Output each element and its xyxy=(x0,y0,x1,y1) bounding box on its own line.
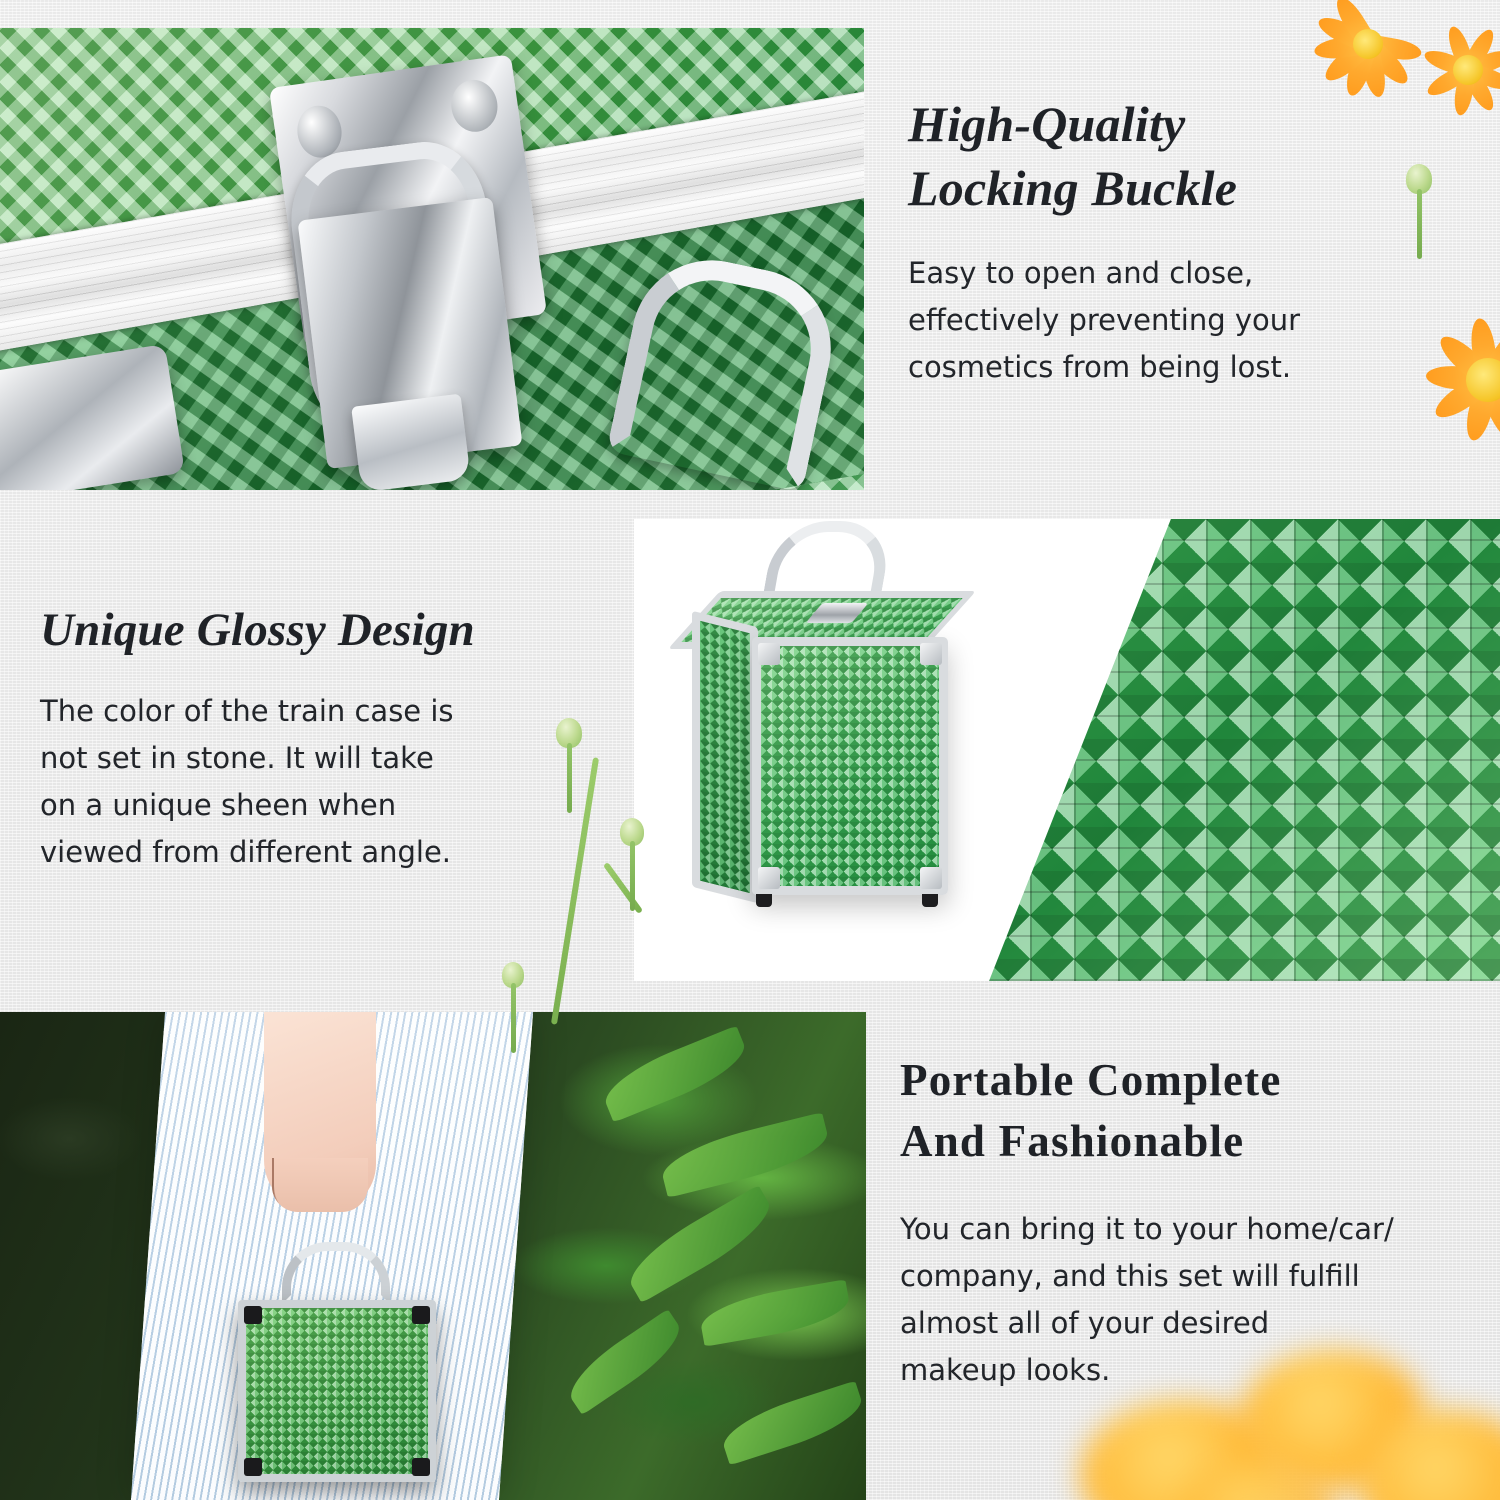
case-side-panel xyxy=(692,611,758,903)
case-corner-br xyxy=(920,867,942,889)
body-line-2: company, and this set will fulfill xyxy=(900,1253,1440,1300)
carried-case-body xyxy=(238,1300,436,1482)
body-line-4: viewed from different angle. xyxy=(40,829,510,876)
heading-line-2: And Fashionable xyxy=(900,1111,1440,1172)
case-corner-bl xyxy=(758,867,780,889)
latch-catch-tab xyxy=(351,394,471,490)
body-line-2: not set in stone. It will take xyxy=(40,735,510,782)
body-locking-buckle: Easy to open and close, effectively prev… xyxy=(908,250,1360,391)
carried-case-corner-bl xyxy=(244,1458,262,1476)
train-case-product xyxy=(752,637,948,895)
body-line-3: on a unique sheen when xyxy=(40,782,510,829)
section-glossy-design: Unique Glossy Design The color of the tr… xyxy=(40,602,510,876)
carried-case-corner-br xyxy=(412,1458,430,1476)
hand xyxy=(264,1012,376,1212)
locking-buckle-photo xyxy=(0,28,864,490)
heading-portable-fashionable: Portable Complete And Fashionable xyxy=(900,1050,1440,1172)
body-glossy-design: The color of the train case is not set i… xyxy=(40,688,510,876)
heading-line-1: High-Quality xyxy=(908,92,1360,156)
body-line-3: almost all of your desired xyxy=(900,1300,1440,1347)
body-line-3: cosmetics from being lost. xyxy=(908,344,1360,391)
case-foot-left xyxy=(756,894,772,907)
body-line-1: Easy to open and close, xyxy=(908,250,1360,297)
carried-case-corner-tr xyxy=(412,1306,430,1324)
body-portable-fashionable: You can bring it to your home/car/ compa… xyxy=(900,1206,1440,1394)
section-locking-buckle: High-Quality Locking Buckle Easy to open… xyxy=(908,92,1360,391)
body-line-4: makeup looks. xyxy=(900,1347,1440,1394)
heading-glossy-design: Unique Glossy Design xyxy=(40,602,510,658)
body-line-2: effectively preventing your xyxy=(908,297,1360,344)
heading-line-1: Portable Complete xyxy=(900,1050,1440,1111)
carried-train-case xyxy=(238,1300,436,1482)
case-foot-right xyxy=(922,894,938,907)
carried-case-corner-tl xyxy=(244,1306,262,1324)
lifestyle-photo xyxy=(0,1012,866,1500)
body-line-1: You can bring it to your home/car/ xyxy=(900,1206,1440,1253)
case-corner-tr xyxy=(920,643,942,665)
case-corner-tl xyxy=(758,643,780,665)
section-portable-fashionable: Portable Complete And Fashionable You ca… xyxy=(900,1050,1440,1394)
heading-locking-buckle: High-Quality Locking Buckle xyxy=(908,92,1360,220)
side-clasp xyxy=(0,344,185,490)
heading-line-2: Locking Buckle xyxy=(908,156,1360,220)
body-line-1: The color of the train case is xyxy=(40,688,510,735)
case-front-panel xyxy=(752,637,948,895)
heading-line-1: Unique Glossy Design xyxy=(40,602,510,658)
product-and-texture-photo xyxy=(634,519,1500,981)
